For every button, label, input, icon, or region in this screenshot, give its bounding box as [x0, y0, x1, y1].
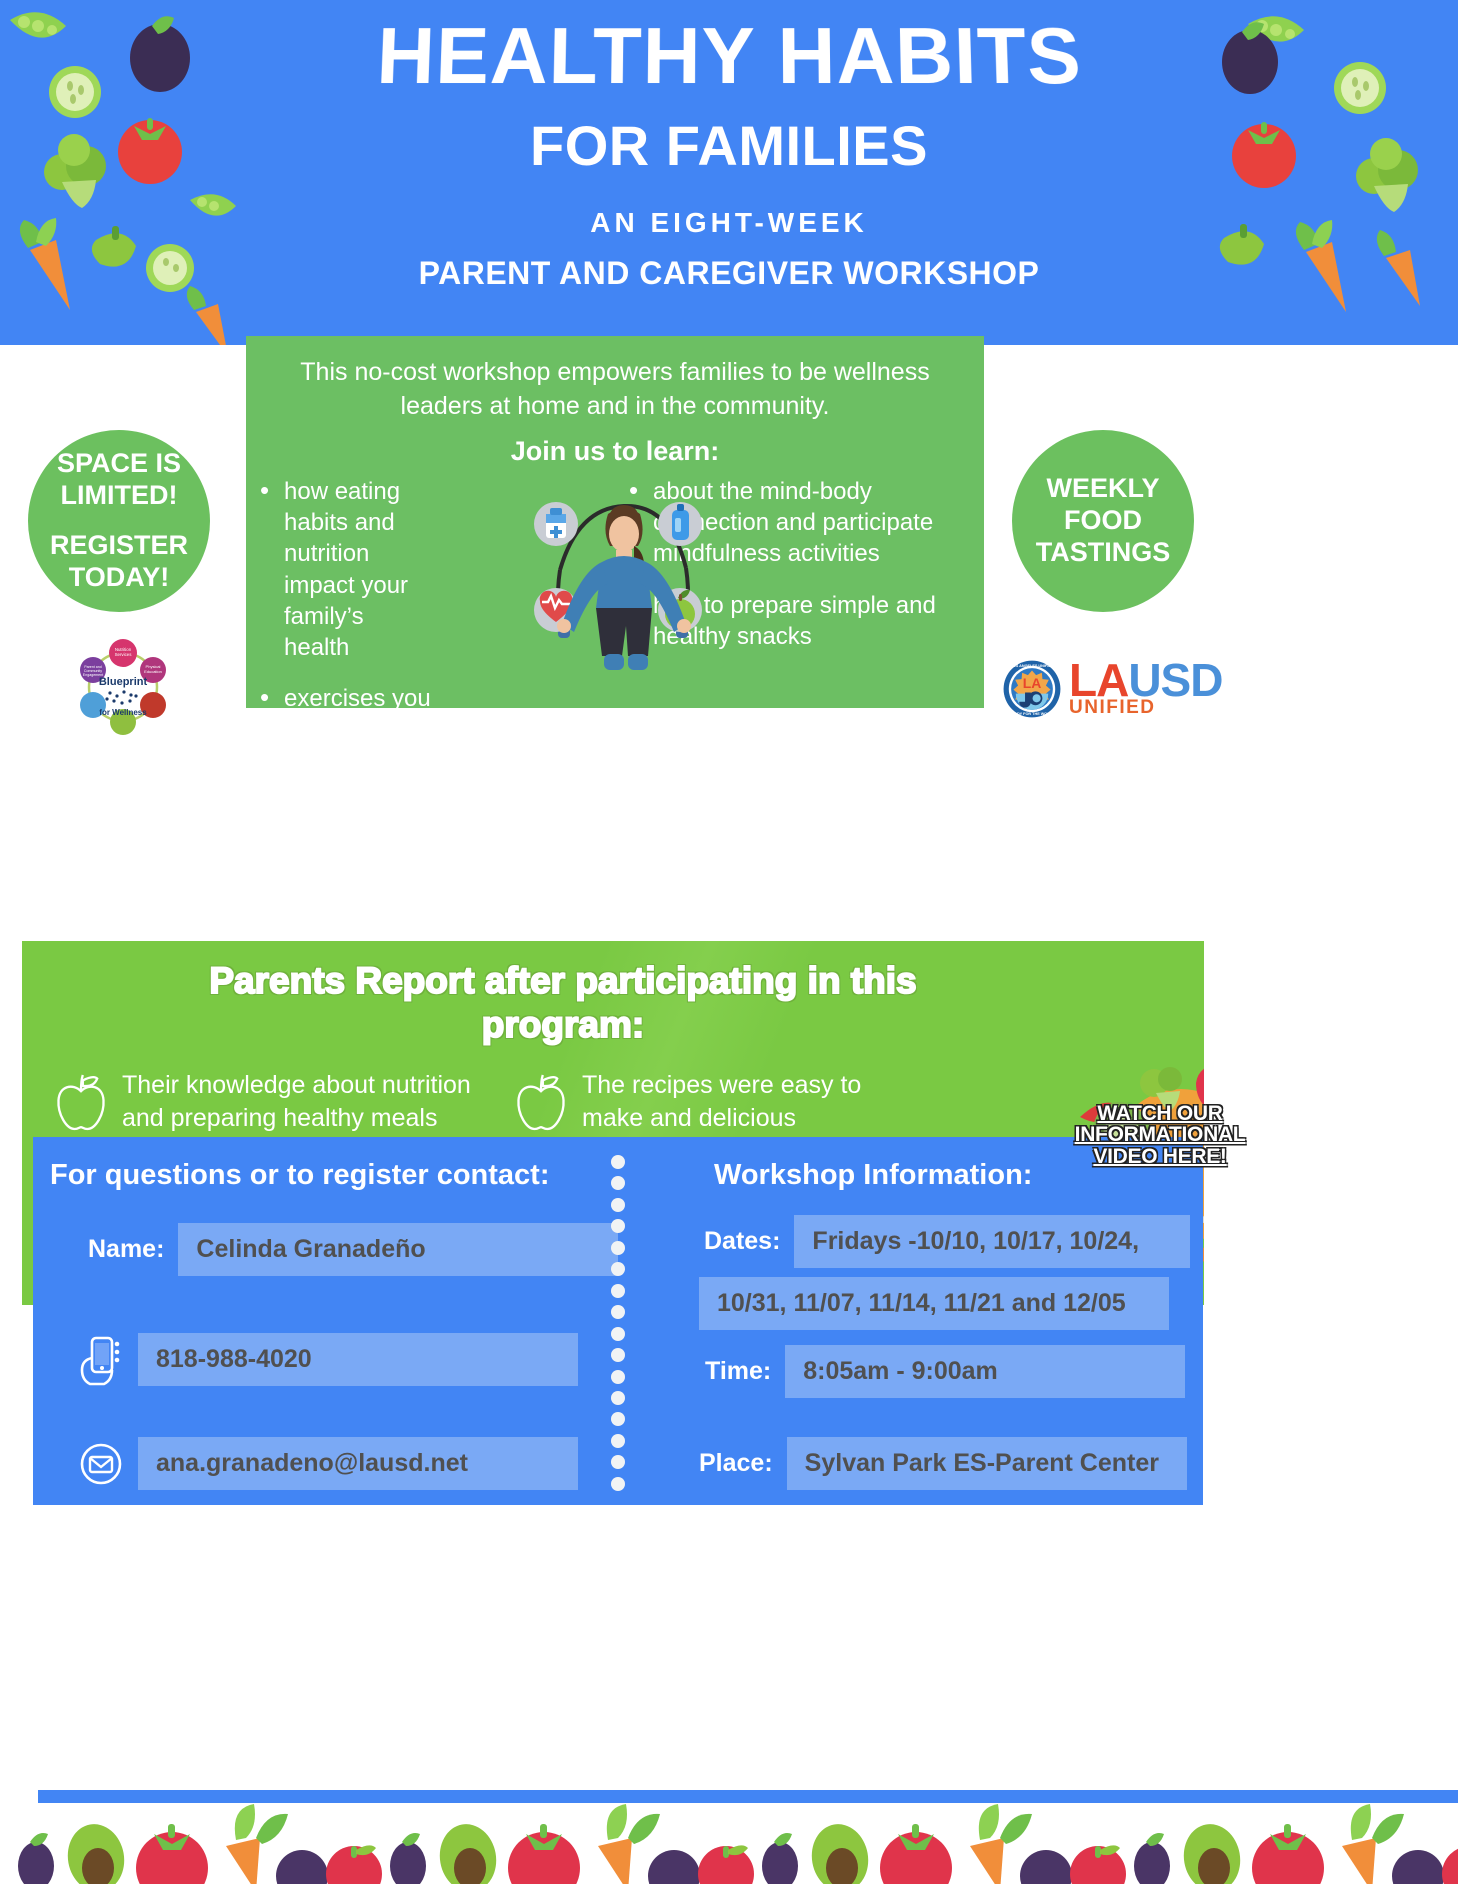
apple-icon [1442, 1845, 1458, 1884]
program-type: PARENT AND CAREGIVER WORKSHOP [0, 255, 1458, 292]
learn-bullets-right: about the mind-body connection and parti… [615, 458, 984, 708]
weekly-food-tastings-badge: WEEKLY FOOD TASTINGS [1012, 430, 1194, 612]
tomato-icon [880, 1824, 952, 1884]
badge-line: WEEKLY [1036, 473, 1171, 505]
divider-dot [611, 1219, 625, 1233]
divider-dot [611, 1477, 625, 1491]
place-label: Place: [699, 1449, 773, 1478]
dates-value-line1[interactable]: Fridays -10/10, 10/17, 10/24, [794, 1215, 1190, 1268]
workshop-intro-text: This no-cost workshop empowers families … [262, 348, 968, 424]
badge-line: TODAY! [50, 562, 188, 594]
contact-heading: For questions or to register contact: [33, 1137, 599, 1192]
divider-dot [611, 1155, 625, 1169]
place-value[interactable]: Sylvan Park ES-Parent Center [787, 1437, 1187, 1490]
seal-bottom-text: READY FOR THE WORLD [1009, 712, 1055, 716]
tomato-icon [508, 1824, 580, 1884]
list-item: how to prepare simple and healthy snacks [627, 590, 976, 652]
contact-phone-row: 818-988-4020 [78, 1333, 578, 1386]
flyer-page: HEALTHY HABITS FOR FAMILIES AN EIGHT-WEE… [0, 0, 1458, 1884]
divider-dot [611, 1434, 625, 1448]
envelope-icon [78, 1438, 124, 1490]
divider-dot [611, 1412, 625, 1426]
carrot-icon-2 [187, 286, 228, 345]
header-banner: HEALTHY HABITS FOR FAMILIES AN EIGHT-WEE… [0, 0, 1458, 345]
avocado-icon [435, 1820, 502, 1884]
tomato-icon [136, 1824, 208, 1884]
badge-line: TASTINGS [1036, 537, 1171, 569]
watch-video-label[interactable]: WATCH OUR INFORMATIONAL VIDEO HERE! [1030, 1103, 1290, 1167]
divider-dot [611, 1176, 625, 1190]
parents-report-heading: Parents Report after participating in th… [22, 959, 1204, 1046]
name-value[interactable]: Celinda Granadeño [178, 1223, 618, 1276]
workshop-time-row: Time: 8:05am - 9:00am [705, 1345, 1185, 1398]
svg-text:Education: Education [144, 669, 162, 674]
avocado-icon [1179, 1820, 1246, 1884]
workshop-place-row: Place: Sylvan Park ES-Parent Center [699, 1437, 1187, 1490]
contact-and-workshop-panel: For questions or to register contact: Na… [33, 1137, 1203, 1505]
contact-column: For questions or to register contact: Na… [33, 1137, 599, 1505]
list-item: how eating habits and nutrition impact y… [258, 476, 435, 663]
eggplant-icon [390, 1833, 426, 1884]
dates-label: Dates: [704, 1227, 780, 1256]
tomato-icon [1252, 1824, 1324, 1884]
contact-name-row: Name: Celinda Granadeño [88, 1223, 618, 1276]
avocado-icon [63, 1820, 130, 1884]
beet-icon [276, 1850, 328, 1884]
email-value[interactable]: ana.granadeno@lausd.net [138, 1437, 578, 1490]
apple-icon [1070, 1845, 1126, 1884]
list-item: about the mind-body connection and parti… [627, 476, 976, 570]
apple-outline-icon [54, 1071, 108, 1133]
beet-icon [648, 1850, 700, 1884]
blueprint-wordmark: Blueprint [99, 676, 148, 688]
page-subtitle: FOR FAMILIES [0, 110, 1458, 183]
bottom-vegetable-border [0, 1784, 1458, 1884]
svg-text:Services: Services [115, 652, 133, 657]
dates-value-line2[interactable]: 10/31, 11/07, 11/14, 11/21 and 12/05 [699, 1277, 1169, 1330]
svg-text:LA: LA [1023, 675, 1042, 691]
workshop-description-box: This no-cost workshop empowers families … [246, 336, 984, 708]
seal-top-text: LOS ANGELES UNIFIED [1011, 664, 1054, 668]
time-label: Time: [705, 1357, 771, 1386]
divider-dot [611, 1241, 625, 1255]
badge-line: SPACE IS [50, 448, 188, 480]
beet-icon [1392, 1850, 1444, 1884]
eggplant-icon [762, 1833, 798, 1884]
badge-line: REGISTER [50, 530, 188, 562]
divider-dot [611, 1305, 625, 1319]
time-value[interactable]: 8:05am - 9:00am [785, 1345, 1185, 1398]
blueprint-for-wellness-logo: Nutrition Services Physical Education Pa… [60, 637, 186, 737]
video-label-line: INFORMATIONAL [1030, 1124, 1290, 1145]
badge-line: LIMITED! [50, 480, 188, 512]
learn-bullets-columns: how eating habits and nutrition impact y… [246, 458, 984, 708]
divider-dot [611, 1327, 625, 1341]
space-is-limited-badge: SPACE IS LIMITED! REGISTER TODAY! [28, 430, 210, 612]
learn-bullets-left: how eating habits and nutrition impact y… [246, 458, 615, 708]
lausd-seal-icon: LA LOS ANGELES UNIFIED READY FOR THE WOR… [1003, 660, 1061, 718]
apple-icon [698, 1845, 754, 1884]
workshop-info-column: Workshop Information: Dates: Fridays -10… [649, 1137, 1203, 1505]
divider-dot [611, 1348, 625, 1362]
divider-dot [611, 1262, 625, 1276]
dotted-divider [611, 1155, 625, 1491]
lausd-logo-group: LA LOS ANGELES UNIFIED READY FOR THE WOR… [1003, 655, 1243, 723]
apple-icon [326, 1845, 382, 1884]
program-duration: AN EIGHT-WEEK [0, 207, 1458, 239]
lausd-wordmark: LAUSD UNIFIED [1069, 662, 1222, 715]
divider-dot [611, 1370, 625, 1384]
header-title-block: HEALTHY HABITS FOR FAMILIES AN EIGHT-WEE… [0, 16, 1458, 292]
contact-email-row: ana.granadeno@lausd.net [78, 1437, 578, 1490]
divider-dot [611, 1455, 625, 1469]
divider-dot [611, 1198, 625, 1212]
eggplant-icon [1134, 1833, 1170, 1884]
divider-dot [611, 1391, 625, 1405]
apple-outline-icon [514, 1071, 568, 1133]
eggplant-icon [18, 1833, 54, 1884]
workshop-dates-row-2: 10/31, 11/07, 11/14, 11/21 and 12/05 [699, 1277, 1169, 1330]
avocado-icon [807, 1820, 874, 1884]
page-title: HEALTHY HABITS [375, 16, 1083, 96]
badge-line: FOOD [1036, 505, 1171, 537]
video-label-line: WATCH OUR [1030, 1103, 1290, 1124]
beet-icon [1020, 1850, 1072, 1884]
list-item: exercises you can do at home to improve … [258, 683, 435, 839]
blueprint-tagline: for Wellness [99, 708, 147, 717]
phone-value[interactable]: 818-988-4020 [138, 1333, 578, 1386]
divider-dot [611, 1284, 625, 1298]
mobile-phone-in-hand-icon [78, 1334, 124, 1386]
video-label-line: VIDEO HERE! [1030, 1146, 1290, 1167]
workshop-dates-row: Dates: Fridays -10/10, 10/17, 10/24, [704, 1215, 1190, 1268]
name-label: Name: [88, 1235, 164, 1264]
